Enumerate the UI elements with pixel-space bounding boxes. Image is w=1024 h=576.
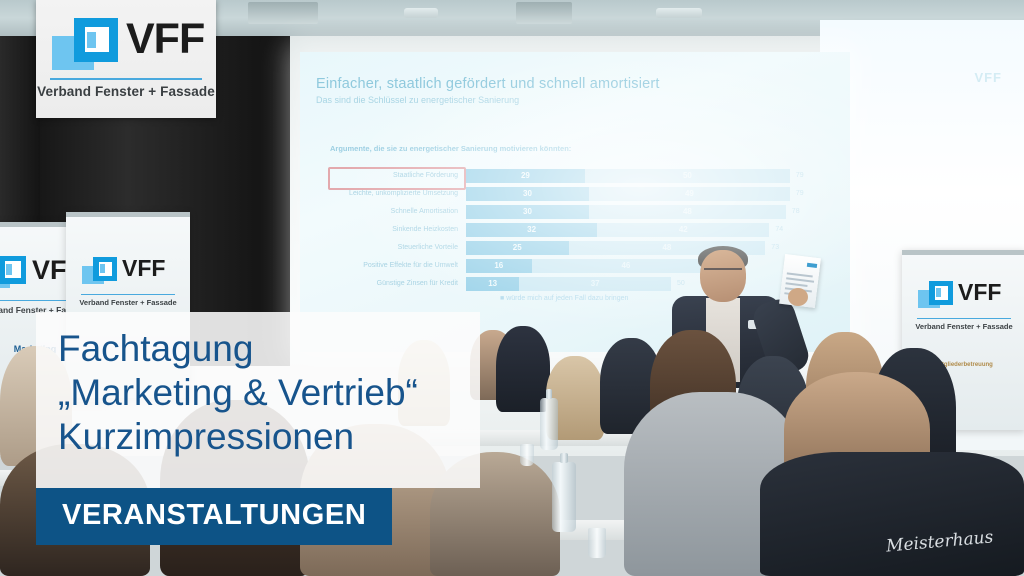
title-panel: Fachtagung „Marketing & Vertrieb“ Kurzim…: [36, 312, 480, 488]
vff-logo-mark: VFF: [916, 278, 1020, 312]
banner-wordmark: VFF: [958, 281, 1001, 304]
chart-bar-segment-secondary: 49: [589, 187, 790, 201]
vff-logo-mark: VFF: [80, 254, 180, 288]
chart-row-total: 50: [671, 280, 685, 287]
ceiling-vent: [248, 2, 318, 24]
chart-row-total: 79: [790, 190, 804, 197]
logo-wordmark: VFF: [126, 18, 204, 61]
chart-row: Günstige Zinsen für Kredit133750: [330, 276, 685, 291]
chart-bar-segment-primary: 29: [466, 169, 585, 183]
logo-square-inner: [936, 288, 941, 297]
logo-square-inner: [6, 264, 12, 275]
chart-row-label: Steuerliche Vorteile: [330, 244, 466, 251]
chart-bar-segment-primary: 32: [466, 223, 597, 237]
chart-row-total: 78: [786, 208, 800, 215]
logo-square-inner: [87, 32, 96, 48]
chart-bar: 1337: [466, 277, 671, 291]
chart-row-total: 79: [790, 172, 804, 179]
slide-chart-kicker: Argumente, die sie zu energetischer Sani…: [330, 144, 571, 153]
chart-row: Schnelle Amortisation304878: [330, 204, 800, 219]
water-bottle: [552, 462, 576, 532]
banner-top-rail: [66, 212, 190, 217]
banner-wordmark: VFF: [122, 257, 165, 280]
chart-row-label: Sinkende Heizkosten: [330, 226, 466, 233]
chart-legend: ■ würde mich auf jeden Fall dazu bringen: [500, 295, 628, 302]
chart-row-total: 73: [765, 244, 779, 251]
ceiling-vent: [516, 2, 572, 24]
vff-logo-mark: VFF: [50, 14, 202, 76]
chart-bar-segment-primary: 25: [466, 241, 569, 255]
logo-square-inner: [100, 264, 105, 273]
ceiling-light: [656, 8, 702, 18]
chart-bar-segment-secondary: 48: [589, 205, 786, 219]
banner-caption: Verband Fenster + Fassade: [66, 298, 190, 307]
chart-row-label: Schnelle Amortisation: [330, 208, 466, 215]
banner-top-rail: [902, 250, 1024, 255]
slide-title: Einfacher, staatlich gefördert und schne…: [316, 76, 746, 92]
chart-bar-segment-secondary: 46: [532, 259, 721, 273]
audience-member-front: [760, 452, 1024, 576]
chart-row-label: Leichte, unkomplizierte Umsetzung: [330, 190, 466, 197]
speaker-glasses: [704, 268, 742, 278]
title-line-3: Kurzimpressionen: [58, 416, 354, 457]
title-line-1: Fachtagung: [58, 328, 253, 369]
chart-row-label: Positive Effekte für die Umwelt: [330, 262, 466, 269]
logo-caption: Verband Fenster + Fassade: [36, 84, 216, 99]
legend-swatch: ■: [500, 295, 504, 302]
chart-row-label: Günstige Zinsen für Kredit: [330, 280, 466, 287]
vff-logo-badge: VFF Verband Fenster + Fassade: [36, 0, 216, 118]
title-line-2: „Marketing & Vertrieb“: [58, 372, 418, 413]
logo-divider: [50, 78, 202, 80]
highlight-box: [328, 167, 466, 190]
chart-bar-segment-primary: 13: [466, 277, 519, 291]
ceiling-light: [404, 8, 438, 18]
chart-row-total: 74: [769, 226, 783, 233]
chart-bar: 3049: [466, 187, 790, 201]
chart-bar-segment-primary: 16: [466, 259, 532, 273]
chart-bar: 1646: [466, 259, 720, 273]
chart-row: Sinkende Heizkosten324274: [330, 222, 783, 237]
banner-rule: [917, 318, 1011, 319]
legend-label: würde mich auf jeden Fall dazu bringen: [506, 295, 628, 302]
banner-caption: Verband Fenster + Fassade: [902, 322, 1024, 331]
video-thumbnail: Einfacher, staatlich gefördert und schne…: [0, 0, 1024, 576]
slide-brand-logo: VFF: [974, 70, 1002, 85]
speaker-hand: [788, 288, 808, 306]
chart-bar: 2950: [466, 169, 790, 183]
chart-bar: 3048: [466, 205, 786, 219]
category-label: VERANSTALTUNGEN: [62, 499, 366, 532]
water-bottle: [540, 398, 558, 450]
chart-bar-segment-primary: 30: [466, 187, 589, 201]
chart-bar-segment-secondary: 37: [519, 277, 671, 291]
paper-logo: [807, 263, 817, 268]
chart-bar: 3242: [466, 223, 769, 237]
chart-bar-segment-primary: 30: [466, 205, 589, 219]
chart-row: Positive Effekte für die Umwelt164662: [330, 258, 734, 273]
chart-bar-segment-secondary: 50: [585, 169, 790, 183]
drinking-glass: [520, 444, 534, 466]
banner-rule: [81, 294, 175, 295]
category-banner: VERANSTALTUNGEN: [36, 488, 392, 545]
drinking-glass: [588, 528, 606, 558]
slide-subtitle: Das sind die Schlüssel zu energetischer …: [316, 95, 746, 105]
chart-bar-segment-secondary: 42: [597, 223, 769, 237]
